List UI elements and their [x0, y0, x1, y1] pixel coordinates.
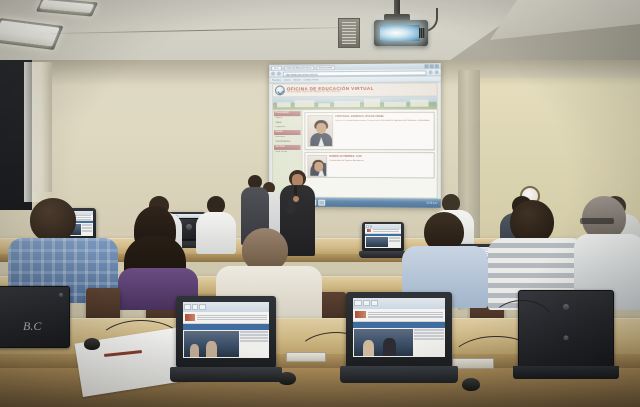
staff-role: Jefe de la Unidad Administrativa, Docent…: [335, 120, 430, 123]
sidebar-heading-servicios: Servicios: [274, 145, 300, 150]
sidebar-item-coordinadores[interactable]: Coordinadores: [274, 140, 300, 144]
laptop-lid-label: B.C: [23, 319, 41, 334]
glasses-icon: [580, 218, 614, 224]
bookmark-3[interactable]: Campus Virtual: [304, 77, 319, 83]
gear-icon[interactable]: [435, 70, 439, 74]
sidebar-item-objetivos[interactable]: Objetivos: [274, 126, 300, 130]
staff-role-2: Coordinador de Soporte Académico: [329, 160, 364, 163]
page-banner-image: [273, 97, 437, 111]
staff-info-2: RAMOS GUTIERREZ, LUIS Coordinador de Sop…: [329, 155, 364, 175]
bookmark-0[interactable]: Favoritos: [272, 77, 281, 83]
staff-portrait: [307, 115, 333, 147]
sidebar-heading-equipo: Equipo: [274, 130, 300, 135]
sidebar-item-directorio[interactable]: Directorio: [274, 136, 300, 139]
projector-vent: [419, 28, 425, 38]
wall-speaker: [338, 18, 360, 48]
light-tube: [39, 0, 94, 13]
laptop-open-front-center[interactable]: [346, 292, 452, 368]
close-icon[interactable]: [435, 64, 439, 68]
laptop-screen-content-2: [353, 298, 444, 357]
page-main-content: CRISTOBAL BARBOZA, OSCAR ANGEL Jefe de l…: [302, 110, 436, 198]
page-header: OFICINA DE EDUCACIÓN VIRTUAL Universidad…: [273, 83, 437, 97]
window-glow: [24, 62, 50, 202]
person-purple-top-long-hair: [118, 206, 198, 306]
search-icon[interactable]: [429, 70, 433, 74]
power-strip-2[interactable]: [286, 352, 326, 362]
browser-tab-1[interactable]: Oficina de Educación Virtual: [284, 65, 315, 70]
laptop-open-back-3[interactable]: [362, 222, 404, 252]
sidebar-heading-presentacion: Presentación: [274, 111, 300, 116]
oev-shield-icon: [275, 85, 285, 95]
window-controls[interactable]: [424, 64, 438, 68]
projector-lens-icon: [380, 25, 420, 41]
mouse-left[interactable]: [84, 338, 100, 350]
bookmark-2[interactable]: Intranet: [293, 77, 300, 83]
sidebar-item-aula-virtual[interactable]: Aula Virtual: [274, 150, 300, 154]
staff-card-2: RAMOS GUTIERREZ, LUIS Coordinador de Sop…: [304, 152, 434, 179]
mouse-right[interactable]: [462, 378, 480, 391]
browser-tab-0[interactable]: Inicio: [271, 65, 281, 70]
ceiling-projector[interactable]: [374, 20, 428, 46]
classroom-scene: Inicio Oficina de Educación Virtual Nuev…: [0, 0, 640, 407]
url-input[interactable]: http://www.oev.unmsm.edu.pe/: [283, 70, 427, 76]
mouse-center[interactable]: [278, 372, 296, 385]
staff-card: CRISTOBAL BARBOZA, OSCAR ANGEL Jefe de l…: [304, 112, 434, 150]
staff-name: CRISTOBAL BARBOZA, OSCAR ANGEL: [335, 116, 430, 119]
page-title-group: OFICINA DE EDUCACIÓN VIRTUAL Universidad…: [287, 86, 374, 94]
laptop-lid-bc[interactable]: B.C: [0, 286, 70, 348]
minimize-icon[interactable]: [424, 64, 428, 68]
laptop-open-front-left[interactable]: [176, 296, 276, 368]
staff-name-2: RAMOS GUTIERREZ, LUIS: [329, 156, 364, 159]
back-icon[interactable]: [271, 72, 275, 76]
browser-tab-2[interactable]: Nueva pestaña: [316, 65, 335, 70]
sidebar-item-vision[interactable]: Visión: [274, 121, 300, 125]
staff-info: CRISTOBAL BARBOZA, OSCAR ANGEL Jefe de l…: [335, 115, 430, 147]
bookmark-1[interactable]: Correo: [284, 77, 291, 83]
laptop-screen-content-1: [183, 302, 269, 358]
speaker-grill-icon: [342, 22, 356, 44]
power-strip[interactable]: [452, 358, 494, 369]
page-subtitle: Universidad Nacional Mayor de San Marcos: [287, 91, 374, 94]
maximize-icon[interactable]: [430, 64, 434, 68]
sidebar-item-mision[interactable]: Misión: [274, 117, 300, 121]
forward-icon[interactable]: [277, 72, 281, 76]
